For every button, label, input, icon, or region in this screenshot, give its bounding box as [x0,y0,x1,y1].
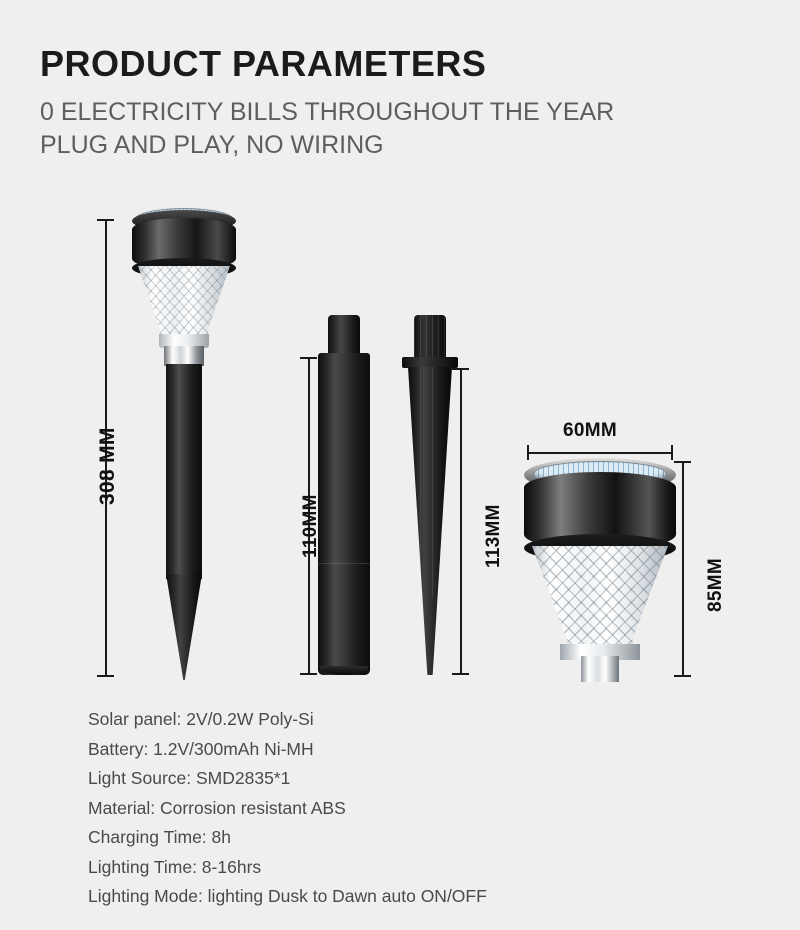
product-image-lamp-head [524,458,676,678]
spike-rib [432,367,433,597]
tube-body [318,353,370,675]
spec-item: Charging Time: 8h [88,823,728,853]
spike-head [414,315,446,359]
dimension-label-head-width: 60MM [563,420,617,442]
tick-bottom [452,673,469,675]
spec-item: Solar panel: 2V/0.2W Poly-Si [88,705,728,735]
spec-item: Lighting Time: 8-16hrs [88,853,728,883]
diffuser-lens [138,266,230,340]
dimension-line [527,452,673,454]
chrome-collar [164,346,204,366]
product-image-ground-spike [402,315,458,675]
spec-item: Light Source: SMD2835*1 [88,764,728,794]
subtitle-line-2: PLUG AND PLAY, NO WIRING [40,129,740,162]
spike-flange [402,357,458,368]
page-title: PRODUCT PARAMETERS [40,46,740,82]
spec-item: Lighting Mode: lighting Dusk to Dawn aut… [88,882,728,912]
product-image-extension-tube [318,315,370,675]
spec-item: Battery: 1.2V/300mAh Ni-MH [88,735,728,765]
dimension-label-ground-spike: 113MM [483,504,505,568]
dimension-label-full-lamp: 308 MM [96,427,120,505]
tick-right [671,445,673,460]
subtitle-line-1: 0 ELECTRICITY BILLS THROUGHOUT THE YEAR [40,96,740,129]
tick-bottom [97,675,114,677]
diffuser-lens [532,546,668,656]
product-parameters-page: PRODUCT PARAMETERS 0 ELECTRICITY BILLS T… [0,0,800,930]
product-image-full-lamp [126,208,242,680]
dimension-line [682,462,684,676]
dimension-line [460,369,462,674]
dimension-label-extension-tube: 110MM [300,494,322,558]
header-block: PRODUCT PARAMETERS 0 ELECTRICITY BILLS T… [40,46,740,162]
spike-cone [408,367,452,675]
lamp-pole [166,364,202,579]
spike-rib [420,367,421,597]
dimension-label-head-height: 85MM [705,558,727,612]
specification-list: Solar panel: 2V/0.2W Poly-Si Battery: 1.… [88,705,728,912]
tick-bottom [674,675,691,677]
tick-bottom [300,673,317,675]
spec-item: Material: Corrosion resistant ABS [88,794,728,824]
chrome-stem [581,656,619,682]
tube-foot [320,666,368,675]
tube-neck [328,315,360,355]
tube-seam [318,563,370,564]
lamp-ground-tip [166,574,202,680]
